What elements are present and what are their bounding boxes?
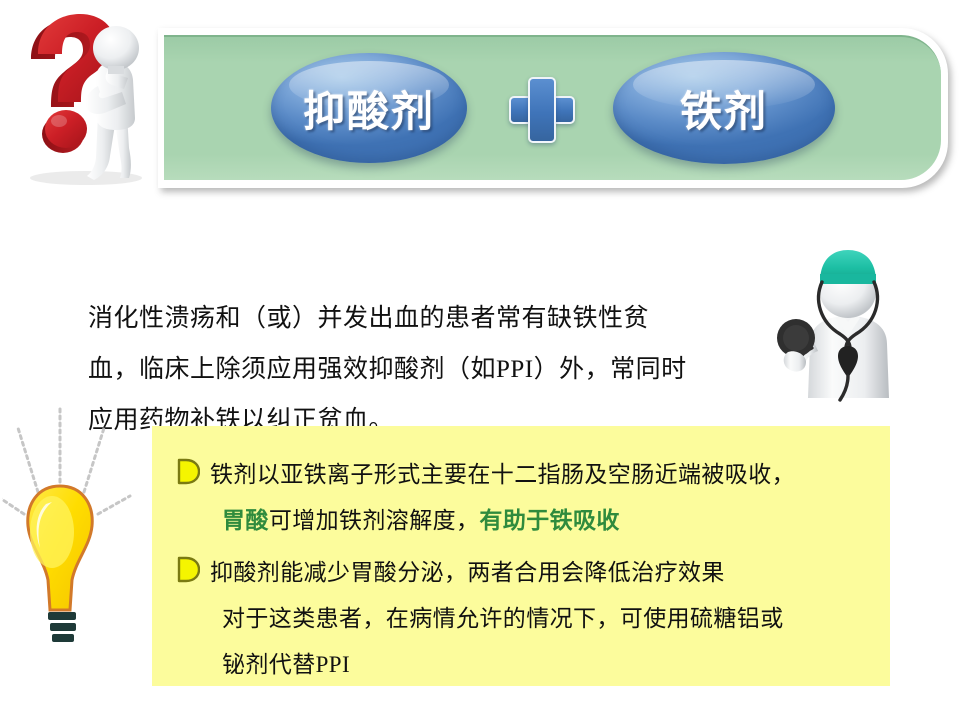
note-line: 铁剂以亚铁离子形式主要在十二指肠及空肠近端被吸收， <box>210 452 872 498</box>
question-mark-icon <box>8 6 158 191</box>
note-text: 可增加铁剂溶解度， <box>269 508 480 533</box>
note-item: 抑酸剂能减少胃酸分泌，两者合用会降低治疗效果 对于这类患者，在病情允许的情况下，… <box>174 550 872 688</box>
note-item: 铁剂以亚铁离子形式主要在十二指肠及空肠近端被吸收， 胃酸可增加铁剂溶解度，有助于… <box>174 452 872 544</box>
doctor-icon <box>748 226 948 406</box>
plus-bar-vertical <box>528 77 556 143</box>
note-line: 铋剂代替PPI <box>210 642 872 688</box>
d-bullet-icon <box>174 458 200 485</box>
question-mark-illustration <box>8 6 158 191</box>
note-highlight-stomach-acid: 胃酸 <box>222 508 269 533</box>
pill-antacid: 抑酸剂 <box>271 53 467 163</box>
note-lines: 铁剂以亚铁离子形式主要在十二指肠及空肠近端被吸收， 胃酸可增加铁剂溶解度，有助于… <box>210 452 872 544</box>
light-bulb-icon <box>2 404 152 654</box>
pill-antacid-label: 抑酸剂 <box>303 78 435 139</box>
header-banner: 抑酸剂 铁剂 <box>158 28 948 188</box>
notes-box-inner: 铁剂以亚铁离子形式主要在十二指肠及空肠近端被吸收， 胃酸可增加铁剂溶解度，有助于… <box>152 426 890 688</box>
plus-icon <box>509 77 571 139</box>
pill-iron-label: 铁剂 <box>680 78 768 139</box>
d-bullet-icon <box>174 556 200 583</box>
note-lines: 抑酸剂能减少胃酸分泌，两者合用会降低治疗效果 对于这类患者，在病情允许的情况下，… <box>210 550 872 688</box>
banner-content-row: 抑酸剂 铁剂 <box>158 28 948 188</box>
note-line: 胃酸可增加铁剂溶解度，有助于铁吸收 <box>210 498 872 544</box>
body-paragraph: 消化性溃疡和（或）并发出血的患者常有缺铁性贫血，临床上除须应用强效抑酸剂（如PP… <box>88 293 698 446</box>
note-line: 抑酸剂能减少胃酸分泌，两者合用会降低治疗效果 <box>210 550 872 596</box>
doctor-illustration <box>748 226 948 406</box>
note-highlight-iron-absorption: 有助于铁吸收 <box>479 508 619 533</box>
notes-box: 铁剂以亚铁离子形式主要在十二指肠及空肠近端被吸收， 胃酸可增加铁剂溶解度，有助于… <box>152 426 890 686</box>
light-bulb-illustration <box>2 404 152 654</box>
pill-iron: 铁剂 <box>613 52 835 164</box>
note-line: 对于这类患者，在病情允许的情况下，可使用硫糖铝或 <box>210 596 872 642</box>
